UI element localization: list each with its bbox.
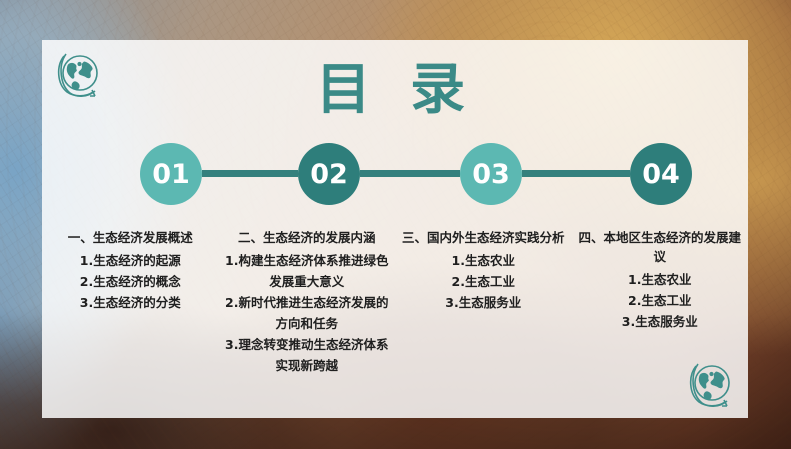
- page-title: 目 录: [0, 58, 791, 120]
- agenda-column-3: 三、国内外生态经济实践分析 1.生态农业 2.生态工业 3.生态服务业: [395, 228, 572, 376]
- agenda-column-item: 1.生态农业: [401, 250, 566, 271]
- agenda-column-heading: 三、国内外生态经济实践分析: [401, 228, 566, 247]
- agenda-column-item: 2.生态工业: [578, 290, 743, 311]
- agenda-column-heading: 四、本地区生态经济的发展建议: [578, 228, 743, 266]
- timeline-node-label: 02: [310, 159, 348, 190]
- agenda-column-item: 3.生态经济的分类: [48, 292, 213, 313]
- agenda-columns: 一、生态经济发展概述 1.生态经济的起源 2.生态经济的概念 3.生态经济的分类…: [42, 228, 748, 376]
- agenda-column-1: 一、生态经济发展概述 1.生态经济的起源 2.生态经济的概念 3.生态经济的分类: [42, 228, 219, 376]
- agenda-column-item: 3.生态服务业: [401, 292, 566, 313]
- agenda-column-item: 3.理念转变推动生态经济体系实现新跨越: [225, 334, 390, 376]
- timeline-connector-2-3: [360, 170, 460, 177]
- timeline-node-label: 03: [472, 159, 510, 190]
- presentation-slide: 目 录 01 02 03 04 一、生态经济发展概述 1.生态经济的起源 2.生…: [0, 0, 791, 449]
- agenda-column-item: 1.生态经济的起源: [48, 250, 213, 271]
- agenda-column-heading: 二、生态经济的发展内涵: [225, 228, 390, 247]
- timeline-node-03[interactable]: 03: [460, 143, 522, 205]
- agenda-column-item: 2.新时代推进生态经济发展的方向和任务: [225, 292, 390, 334]
- timeline-node-label: 01: [152, 159, 190, 190]
- timeline-connector-1-2: [202, 170, 298, 177]
- timeline-connector-3-4: [522, 170, 630, 177]
- agenda-column-item: 2.生态经济的概念: [48, 271, 213, 292]
- timeline-node-02[interactable]: 02: [298, 143, 360, 205]
- agenda-column-4: 四、本地区生态经济的发展建议 1.生态农业 2.生态工业 3.生态服务业: [572, 228, 749, 376]
- timeline-node-01[interactable]: 01: [140, 143, 202, 205]
- agenda-column-heading: 一、生态经济发展概述: [48, 228, 213, 247]
- agenda-column-item: 3.生态服务业: [578, 311, 743, 332]
- timeline: 01 02 03 04: [42, 143, 748, 205]
- agenda-column-2: 二、生态经济的发展内涵 1.构建生态经济体系推进绿色发展重大意义 2.新时代推进…: [219, 228, 396, 376]
- agenda-column-item: 1.构建生态经济体系推进绿色发展重大意义: [225, 250, 390, 292]
- timeline-node-label: 04: [642, 159, 680, 190]
- agenda-column-item: 1.生态农业: [578, 269, 743, 290]
- timeline-node-04[interactable]: 04: [630, 143, 692, 205]
- agenda-column-item: 2.生态工业: [401, 271, 566, 292]
